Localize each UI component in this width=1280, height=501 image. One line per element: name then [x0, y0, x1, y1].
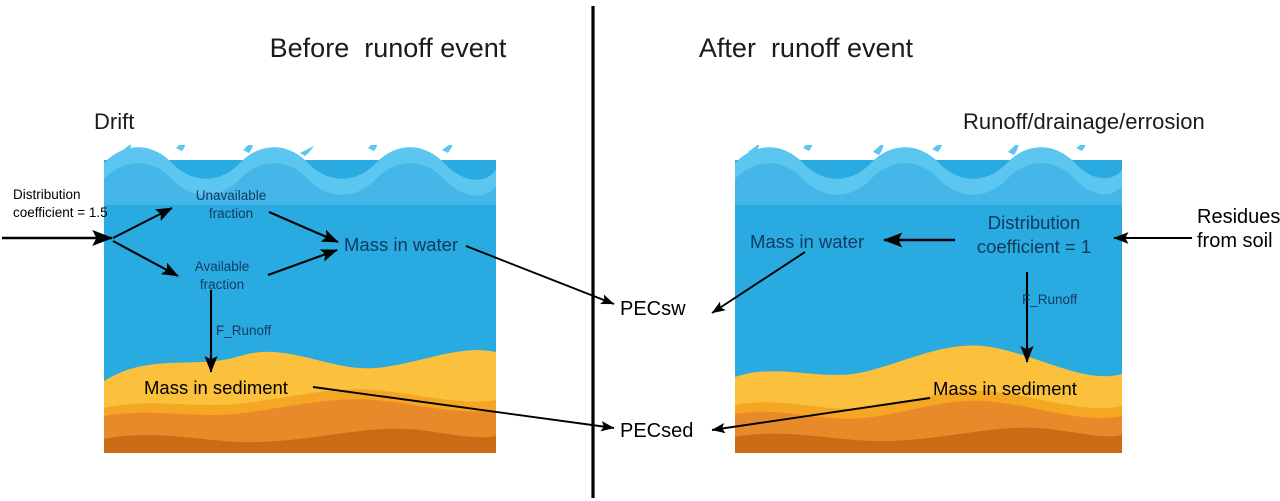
unavailable-fraction-line1: Unavailable: [177, 188, 285, 204]
left-water-body: [104, 138, 496, 453]
left-panel-title: Before runoff event: [188, 33, 588, 64]
left-f-runoff-label: F_Runoff: [216, 323, 271, 339]
unavailable-fraction-line2: fraction: [177, 206, 285, 222]
left-mass-in-sediment-label: Mass in sediment: [144, 377, 288, 398]
right-mass-in-water-label: Mass in water: [750, 231, 864, 252]
pecsw-output-label: PECsw: [620, 298, 686, 321]
right-distribution-coefficient-line1: Distribution: [963, 212, 1105, 233]
right-distribution-coefficient-line2: coefficient = 1: [963, 236, 1105, 257]
residues-from-soil-line1: Residues: [1197, 206, 1280, 229]
residues-from-soil-line2: from soil: [1197, 230, 1273, 253]
left-distribution-coefficient-line2: coefficient = 1.5: [13, 205, 108, 221]
right-f-runoff-label: F_Runoff: [1022, 292, 1077, 308]
available-fraction-line2: fraction: [172, 277, 272, 293]
right-panel-title: After runoff event: [606, 33, 1006, 64]
pecsed-output-label: PECsed: [620, 420, 693, 443]
drift-label: Drift: [94, 109, 134, 134]
available-fraction-line1: Available: [172, 259, 272, 275]
left-mass-in-water-label: Mass in water: [344, 234, 458, 255]
runoff-drainage-errosion-label: Runoff/drainage/errosion: [963, 109, 1205, 134]
diagram-canvas: Before runoff event After runoff event D…: [0, 0, 1280, 501]
right-mass-in-sediment-label: Mass in sediment: [933, 378, 1077, 399]
left-distribution-coefficient-line1: Distribution: [13, 187, 81, 203]
